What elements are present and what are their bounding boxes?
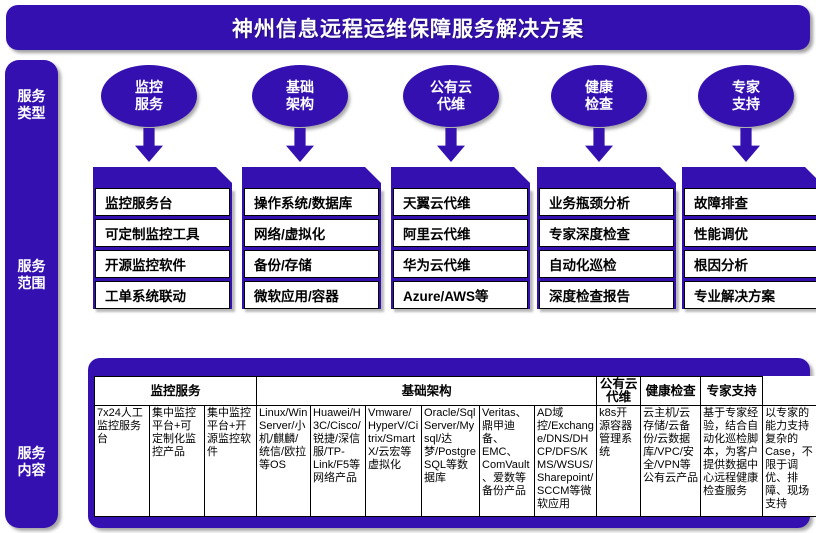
group-header-expert-support: 专家支持 (701, 377, 763, 406)
rail-label-service-type-line1: 服务 (5, 88, 58, 105)
scope-column-infrastructure-head (242, 167, 381, 188)
scope-column-infrastructure: 操作系统/数据库 网络/虚拟化 备份/存储 微软应用/容器 (242, 167, 381, 311)
content-cell[interactable]: Veritas、鼎甲迪备、EMC、ComVault、爱数等备份产品 (480, 406, 535, 517)
arrow-down-infrastructure (286, 128, 314, 162)
scope-column-expert-support-head (682, 167, 816, 188)
scope-item[interactable]: 业务瓶颈分析 (539, 188, 674, 216)
service-content-panel: 监控服务 基础架构 公有云代维 健康检查 专家支持 7x24人工监控服务台 集中… (88, 358, 810, 528)
scope-column-monitoring-head (93, 167, 232, 188)
table-row: 7x24人工监控服务台 集中监控平台+可定制化监控产品 集中监控平台+开源监控软… (95, 406, 816, 517)
table-group-header-row: 监控服务 基础架构 公有云代维 健康检查 专家支持 (95, 377, 816, 406)
category-ellipse-health-check-line2: 检查 (585, 96, 613, 113)
scope-item[interactable]: 开源监控软件 (95, 250, 230, 278)
service-dimension-rail: 服务 类型 服务 范围 服务 内容 (5, 60, 58, 528)
arrow-down-expert-support (732, 128, 760, 162)
category-ellipse-expert-support[interactable]: 专家支持 (698, 65, 794, 127)
category-ellipse-monitoring-line1: 监控 (135, 79, 163, 96)
category-ellipse-infrastructure-line1: 基础 (286, 79, 314, 96)
content-cell[interactable]: 集中监控平台+可定制化监控产品 (150, 406, 205, 517)
content-cell[interactable]: 7x24人工监控服务台 (95, 406, 150, 517)
service-content-table: 监控服务 基础架构 公有云代维 健康检查 专家支持 7x24人工监控服务台 集中… (94, 376, 816, 517)
scope-item[interactable]: 深度检查报告 (539, 281, 674, 309)
content-cell[interactable]: k8s开源容器管理系统 (597, 406, 641, 517)
scope-item[interactable]: 备份/存储 (244, 250, 379, 278)
category-ellipse-public-cloud-line2: 代维 (430, 96, 472, 113)
category-ellipse-expert-support-line1: 专家 (732, 79, 760, 96)
scope-column-health-check-head (537, 167, 676, 188)
group-header-health-check: 健康检查 (641, 377, 701, 406)
rail-label-service-type-line2: 类型 (5, 105, 58, 122)
scope-item[interactable]: 性能调优 (684, 219, 816, 247)
scope-column-infrastructure-rows: 操作系统/数据库 网络/虚拟化 备份/存储 微软应用/容器 (242, 188, 381, 309)
rail-label-service-content-line2: 内容 (5, 462, 58, 479)
content-cell[interactable]: Linux/WinServer/小机/麒麟/统信/欧拉等OS (257, 406, 311, 517)
content-cell[interactable]: Vmware/HyperV/Citrix/SmartX/云宏等虚拟化 (366, 406, 422, 517)
scope-column-expert-support-rows: 故障排查 性能调优 根因分析 专业解决方案 (682, 188, 816, 309)
scope-item[interactable]: 网络/虚拟化 (244, 219, 379, 247)
scope-item[interactable]: 天翼云代维 (393, 188, 528, 216)
content-cell[interactable]: 云主机/云存储/云备份/云数据库/VPC/安全/VPN等公有云产品 (641, 406, 701, 517)
arrow-down-health-check (585, 128, 613, 162)
category-ellipse-monitoring[interactable]: 监控服务 (101, 65, 197, 127)
scope-item[interactable]: 专业解决方案 (684, 281, 816, 309)
scope-item[interactable]: 可定制监控工具 (95, 219, 230, 247)
content-cell[interactable]: AD域控/Exchange/DNS/DHCP/DFS/KMS/WSUS/Shar… (535, 406, 597, 517)
category-ellipse-expert-support-line2: 支持 (732, 96, 760, 113)
group-header-infrastructure: 基础架构 (257, 377, 597, 406)
group-header-monitoring: 监控服务 (95, 377, 257, 406)
scope-item[interactable]: 监控服务台 (95, 188, 230, 216)
group-header-public-cloud: 公有云代维 (597, 377, 641, 406)
scope-column-public-cloud-head (391, 167, 530, 188)
category-ellipse-health-check-line1: 健康 (585, 79, 613, 96)
content-cell[interactable]: 集中监控平台+开源监控软件 (205, 406, 257, 517)
scope-column-health-check: 业务瓶颈分析 专家深度检查 自动化巡检 深度检查报告 (537, 167, 676, 311)
scope-item[interactable]: 自动化巡检 (539, 250, 674, 278)
rail-label-service-scope-line2: 范围 (5, 275, 58, 292)
rail-label-service-type: 服务 类型 (5, 88, 58, 122)
category-ellipse-infrastructure[interactable]: 基础架构 (252, 65, 348, 127)
scope-column-monitoring-rows: 监控服务台 可定制监控工具 开源监控软件 工单系统联动 (93, 188, 232, 309)
scope-column-expert-support: 故障排查 性能调优 根因分析 专业解决方案 (682, 167, 816, 311)
scope-item[interactable]: Azure/AWS等 (393, 281, 528, 309)
scope-column-health-check-rows: 业务瓶颈分析 专家深度检查 自动化巡检 深度检查报告 (537, 188, 676, 309)
scope-item[interactable]: 故障排查 (684, 188, 816, 216)
rail-label-service-scope: 服务 范围 (5, 258, 58, 292)
arrow-down-public-cloud (437, 128, 465, 162)
scope-item[interactable]: 工单系统联动 (95, 281, 230, 309)
category-ellipse-public-cloud[interactable]: 公有云代维 (403, 65, 499, 127)
scope-item[interactable]: 操作系统/数据库 (244, 188, 379, 216)
scope-item[interactable]: 微软应用/容器 (244, 281, 379, 309)
rail-label-service-content-line1: 服务 (5, 445, 58, 462)
scope-item[interactable]: 根因分析 (684, 250, 816, 278)
scope-column-public-cloud-rows: 天翼云代维 阿里云代维 华为云代维 Azure/AWS等 (391, 188, 530, 309)
rail-label-service-scope-line1: 服务 (5, 258, 58, 275)
scope-item[interactable]: 华为云代维 (393, 250, 528, 278)
content-cell[interactable]: 基于专家经验，结合自动化巡检脚本，为客户提供数据中心远程健康检查服务 (701, 406, 763, 517)
scope-item[interactable]: 阿里云代维 (393, 219, 528, 247)
page-title-bar: 神州信息远程运维保障服务解决方案 (6, 5, 810, 50)
scope-column-monitoring: 监控服务台 可定制监控工具 开源监控软件 工单系统联动 (93, 167, 232, 311)
category-ellipse-public-cloud-line1: 公有云 (430, 79, 472, 96)
rail-label-service-content: 服务 内容 (5, 445, 58, 479)
category-ellipse-monitoring-line2: 服务 (135, 96, 163, 113)
scope-item[interactable]: 专家深度检查 (539, 219, 674, 247)
category-ellipse-infrastructure-line2: 架构 (286, 96, 314, 113)
content-cell[interactable]: Oracle/SqlServer/Mysql/达梦/PostgreSQL等数据库 (422, 406, 480, 517)
category-ellipse-health-check[interactable]: 健康检查 (551, 65, 647, 127)
scope-column-public-cloud: 天翼云代维 阿里云代维 华为云代维 Azure/AWS等 (391, 167, 530, 311)
arrow-down-monitoring (135, 128, 163, 162)
content-cell[interactable]: 以专家的能力支持复杂的Case，不限于调优、排障、现场支持 (763, 406, 816, 517)
content-cell[interactable]: Huawei/H3C/Cisco/锐捷/深信服/TP-Link/F5等网络产品 (311, 406, 366, 517)
page-title: 神州信息远程运维保障服务解决方案 (232, 13, 584, 43)
